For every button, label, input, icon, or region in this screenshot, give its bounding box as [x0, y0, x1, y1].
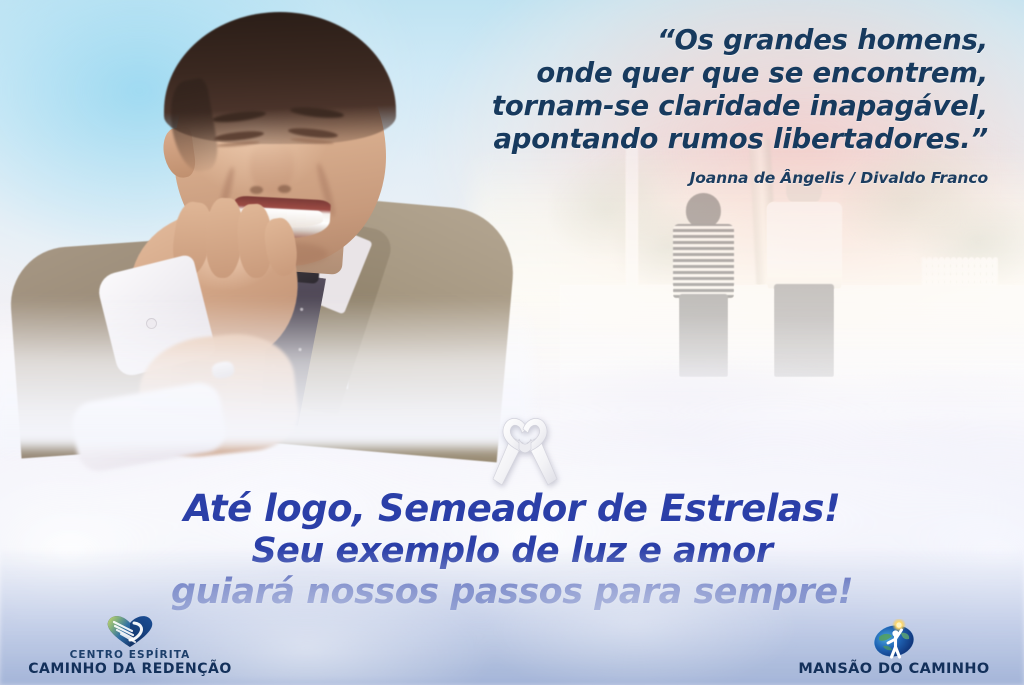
- figure-torso: [767, 202, 842, 288]
- quote-line-3: tornam-se claridade inapagável,: [428, 90, 988, 123]
- nostril-right: [278, 185, 291, 193]
- quote-line-4: apontando rumos libertadores.”: [428, 123, 988, 156]
- headline-line-1: Até logo, Semeador de Estrelas!: [0, 487, 1024, 531]
- logo-mansao-do-caminho[interactable]: MANSÃO DO CAMINHO: [778, 619, 1010, 677]
- nostril-left: [250, 186, 263, 194]
- logo-left-text: CENTRO ESPÍRITA CAMINHO DA REDENÇÃO: [28, 650, 232, 677]
- mourning-ribbon-icon: [489, 413, 561, 489]
- portrait-divaldo-franco: [22, 6, 492, 436]
- heart-hands-icon: [104, 614, 156, 648]
- quote-attribution: Joanna de Ângelis / Divaldo Franco: [428, 169, 988, 187]
- figure-head: [686, 193, 720, 228]
- quote-line-2: onde quer que se encontrem,: [428, 57, 988, 90]
- quote-line-1: “Os grandes homens,: [428, 24, 988, 57]
- globe-figure-icon: [871, 619, 917, 659]
- logo-right-line2: MANSÃO DO CAMINHO: [798, 662, 989, 677]
- logo-centro-espirita-caminho-da-redencao[interactable]: CENTRO ESPÍRITA CAMINHO DA REDENÇÃO: [26, 614, 234, 677]
- logo-left-line2: CAMINHO DA REDENÇÃO: [28, 662, 232, 677]
- logo-right-text: MANSÃO DO CAMINHO: [798, 661, 989, 677]
- figure-torso: [673, 224, 734, 297]
- logo-left-line1: CENTRO ESPÍRITA: [28, 650, 232, 661]
- cuff-button: [146, 318, 157, 329]
- quote-block: “Os grandes homens, onde quer que se enc…: [428, 24, 988, 187]
- tribute-banner: “Os grandes homens, onde quer que se enc…: [0, 0, 1024, 685]
